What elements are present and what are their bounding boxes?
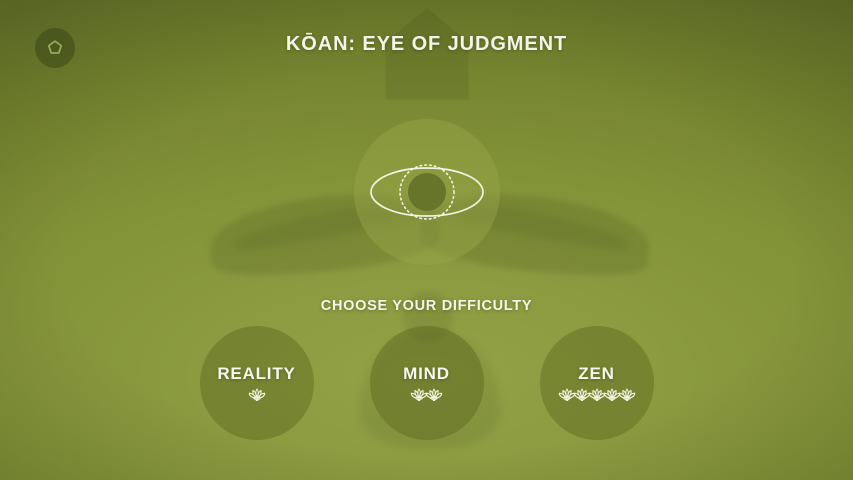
difficulty-label: REALITY (217, 364, 295, 384)
lotus-rating-reality (247, 387, 267, 402)
lotus-icon (247, 387, 267, 402)
game-screen: KŌAN: EYE OF JUDGMENT CHOOSE YOUR DIFFIC… (0, 0, 853, 480)
lotus-icon (424, 387, 444, 402)
page-title: KŌAN: EYE OF JUDGMENT (0, 33, 853, 56)
difficulty-button-mind[interactable]: MIND (370, 326, 484, 440)
difficulty-label: MIND (403, 364, 450, 384)
difficulty-button-reality[interactable]: REALITY (200, 326, 314, 440)
lotus-rating-zen (559, 387, 634, 402)
eye-of-judgment-icon (354, 119, 500, 265)
difficulty-prompt: CHOOSE YOUR DIFFICULTY (0, 298, 853, 314)
lotus-rating-mind (412, 387, 442, 402)
difficulty-button-zen[interactable]: ZEN (540, 326, 654, 440)
lotus-icon (617, 387, 637, 402)
difficulty-label: ZEN (578, 364, 614, 384)
difficulty-options: REALITY MIND ZEN (0, 326, 853, 440)
